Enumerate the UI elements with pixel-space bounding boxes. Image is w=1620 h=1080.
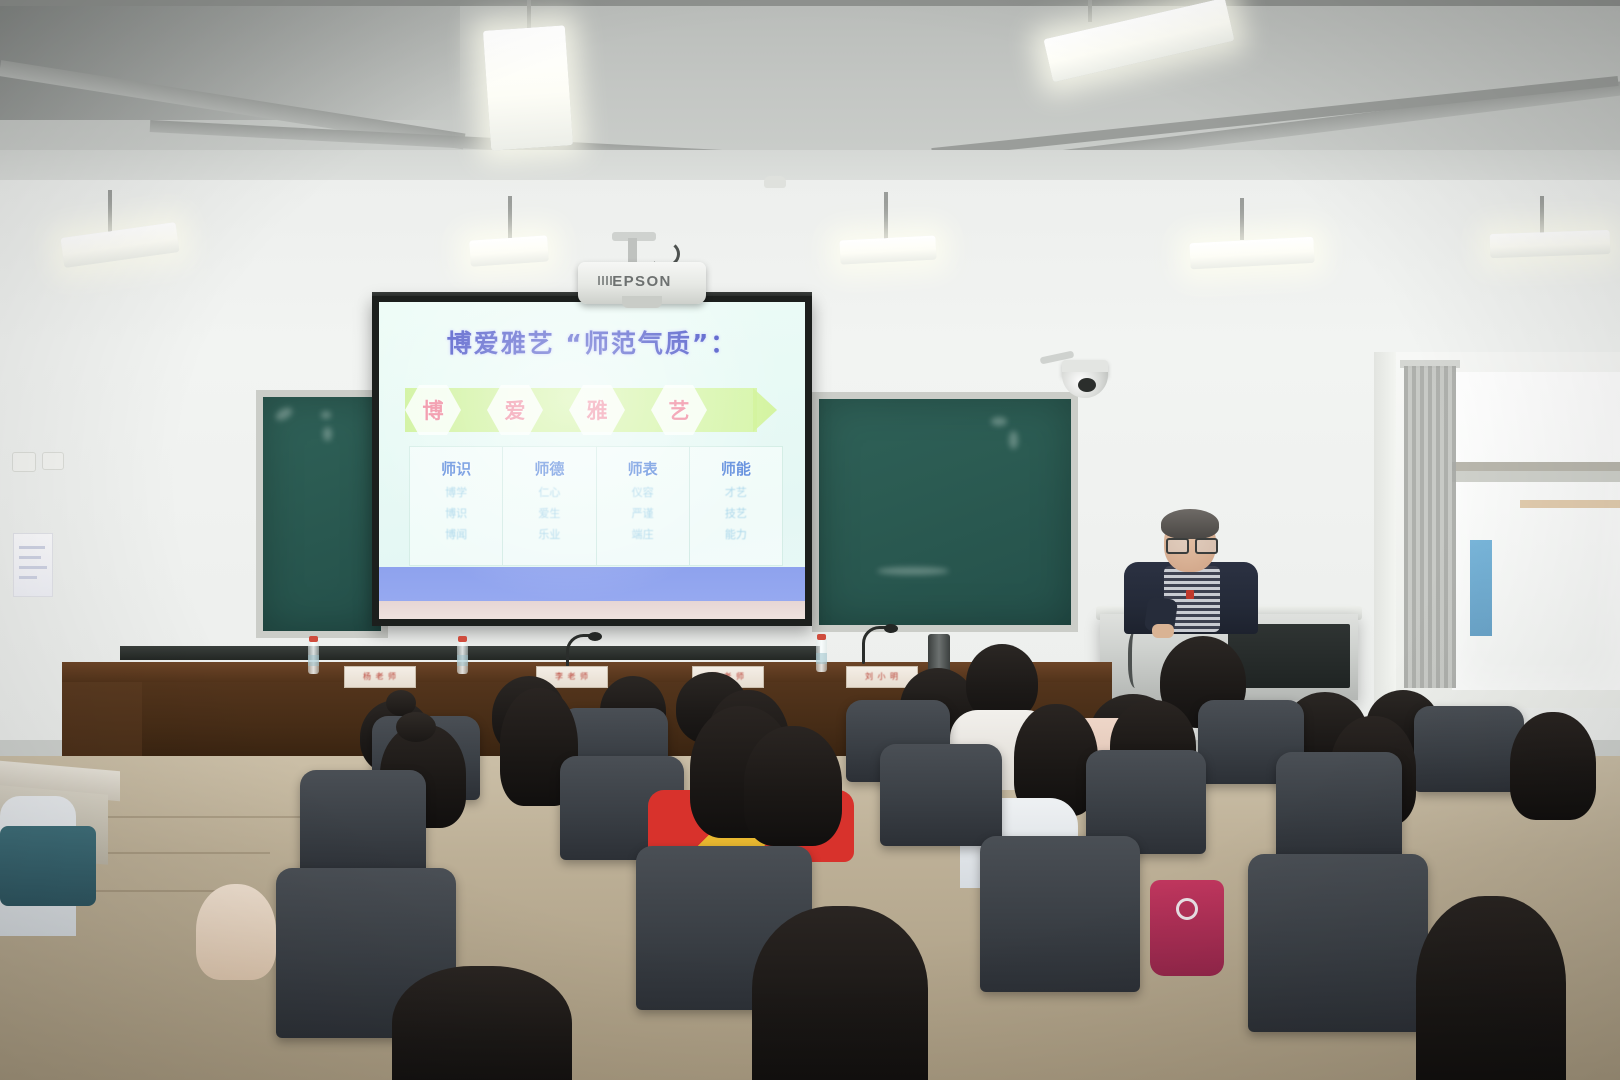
audience-head-front-2 xyxy=(752,906,928,1080)
slide-table-header-1: 师识 xyxy=(410,458,502,479)
slide-table-cell-3-1: 博闻 xyxy=(410,526,502,542)
slide-table-header-3: 师表 xyxy=(597,458,689,479)
slide-hexagon-row: 博 爱 雅 艺 xyxy=(405,382,781,438)
audience-head-front-1 xyxy=(392,966,572,1080)
light-rod-5 xyxy=(884,192,888,240)
speaker-glasses-icon xyxy=(1166,538,1214,550)
chalkboard-right xyxy=(812,392,1078,632)
audience-bun-2 xyxy=(396,712,436,742)
smoke-detector-icon xyxy=(764,176,786,188)
microphone-head-2 xyxy=(884,624,898,633)
slide-content: 博爱雅艺 “师范气质”： 博 爱 雅 艺 师识 博学 博识 博闻 师德 仁心 xyxy=(379,302,805,619)
ceiling-beam-edge xyxy=(0,0,1620,6)
light-rod-4 xyxy=(508,196,512,240)
audience-head-near-2 xyxy=(744,726,842,846)
projector: EPSON xyxy=(578,262,706,304)
wall-socket-1[interactable] xyxy=(12,452,36,472)
light-rod-6 xyxy=(1240,198,1244,240)
seat-2-1[interactable] xyxy=(300,770,426,878)
projector-lens xyxy=(622,296,662,308)
side-chair xyxy=(0,826,96,906)
bottle-label-1 xyxy=(308,655,319,666)
seat-2-3[interactable] xyxy=(880,744,1002,846)
slide-table-column-4: 师能 才艺 技艺 能力 xyxy=(690,447,782,565)
nameplate-1: 杨 老 师 xyxy=(344,666,416,688)
chalkboard-left xyxy=(256,390,388,638)
nameplate-1-text: 杨 老 师 xyxy=(345,667,415,687)
slide-table-cell-1-2: 仁心 xyxy=(503,484,595,500)
bottle-cap-1 xyxy=(309,636,318,642)
ceiling-light-1 xyxy=(483,25,573,150)
slide-footer-band xyxy=(379,567,805,601)
lecture-hall-photo: 博爱雅艺 “师范气质”： 博 爱 雅 艺 师识 博学 博识 博闻 师德 仁心 xyxy=(0,0,1620,1080)
seat-3-5[interactable] xyxy=(1414,706,1524,792)
slide-table-cell-1-4: 才艺 xyxy=(690,484,782,500)
pink-backpack xyxy=(1150,880,1224,976)
slide-footer-band-2 xyxy=(379,601,805,619)
outside-building-edge xyxy=(1520,500,1620,508)
bottle-cap-3 xyxy=(817,634,826,640)
outside-blue-panel xyxy=(1470,540,1492,636)
slide-table-header-2: 师德 xyxy=(503,458,595,479)
wall-column-right xyxy=(1374,352,1396,708)
light-rod-7 xyxy=(1540,196,1544,234)
bottle-label-3 xyxy=(816,653,827,664)
window-mullion-horizontal xyxy=(1452,462,1620,471)
light-rod-2 xyxy=(1088,0,1092,22)
speaker-badge xyxy=(1186,590,1194,599)
light-rod-1 xyxy=(527,0,531,30)
slide-table-header-4: 师能 xyxy=(690,458,782,479)
slide-table-column-3: 师表 仪容 严谨 端庄 xyxy=(597,447,690,565)
slide-table-cell-2-3: 严谨 xyxy=(597,505,689,521)
slide-table-column-1: 师识 博学 博识 博闻 xyxy=(410,447,503,565)
window-blinds[interactable] xyxy=(1404,366,1456,688)
slide-table: 师识 博学 博识 博闻 师德 仁心 爱生 乐业 师表 仪容 严谨 端庄 xyxy=(409,446,783,566)
seat-1-4[interactable] xyxy=(1248,854,1428,1032)
microphone-stem-2 xyxy=(862,648,865,664)
audience-head-front-3 xyxy=(1416,896,1566,1080)
audience-head-mid-7 xyxy=(1510,712,1596,820)
seat-1-3[interactable] xyxy=(980,836,1140,992)
light-rod-3 xyxy=(108,190,112,232)
slide-table-column-2: 师德 仁心 爱生 乐业 xyxy=(503,447,596,565)
slide-table-cell-1-3: 仪容 xyxy=(597,484,689,500)
backpack-ring-icon xyxy=(1176,898,1198,920)
hexagon-arrow-icon xyxy=(753,388,777,432)
slide-table-cell-1-1: 博学 xyxy=(410,484,502,500)
projector-brand-label: EPSON xyxy=(578,273,706,290)
speaker-hand xyxy=(1152,624,1174,638)
slide-table-cell-3-3: 端庄 xyxy=(597,526,689,542)
slide-table-cell-2-1: 博识 xyxy=(410,505,502,521)
speaker-hair xyxy=(1161,509,1219,539)
ceiling-light-5 xyxy=(839,236,936,265)
slide-table-cell-2-2: 爱生 xyxy=(503,505,595,521)
ceiling-light-7 xyxy=(1490,230,1611,258)
front-table-backdrop xyxy=(120,646,820,660)
microphone-head-1 xyxy=(588,632,602,641)
projection-screen: 博爱雅艺 “师范气质”： 博 爱 雅 艺 师识 博学 博识 博闻 师德 仁心 xyxy=(372,296,812,626)
bottle-label-2 xyxy=(457,655,468,666)
camera-lens xyxy=(1078,378,1096,392)
slide-title: 博爱雅艺 “师范气质”： xyxy=(379,324,805,360)
podium-cable xyxy=(1128,630,1146,688)
bottle-cap-2 xyxy=(458,636,467,642)
window xyxy=(1452,372,1620,690)
slide-table-cell-2-4: 技艺 xyxy=(690,505,782,521)
audience-head-front-4 xyxy=(196,884,276,980)
seat-2-5[interactable] xyxy=(1276,752,1402,860)
slide-table-cell-3-4: 能力 xyxy=(690,526,782,542)
slide-table-cell-3-2: 乐业 xyxy=(503,526,595,542)
wall-socket-2[interactable] xyxy=(42,452,64,470)
wall-poster xyxy=(13,533,53,597)
ceiling-light-4 xyxy=(469,235,549,266)
window-ledge xyxy=(1452,470,1620,482)
